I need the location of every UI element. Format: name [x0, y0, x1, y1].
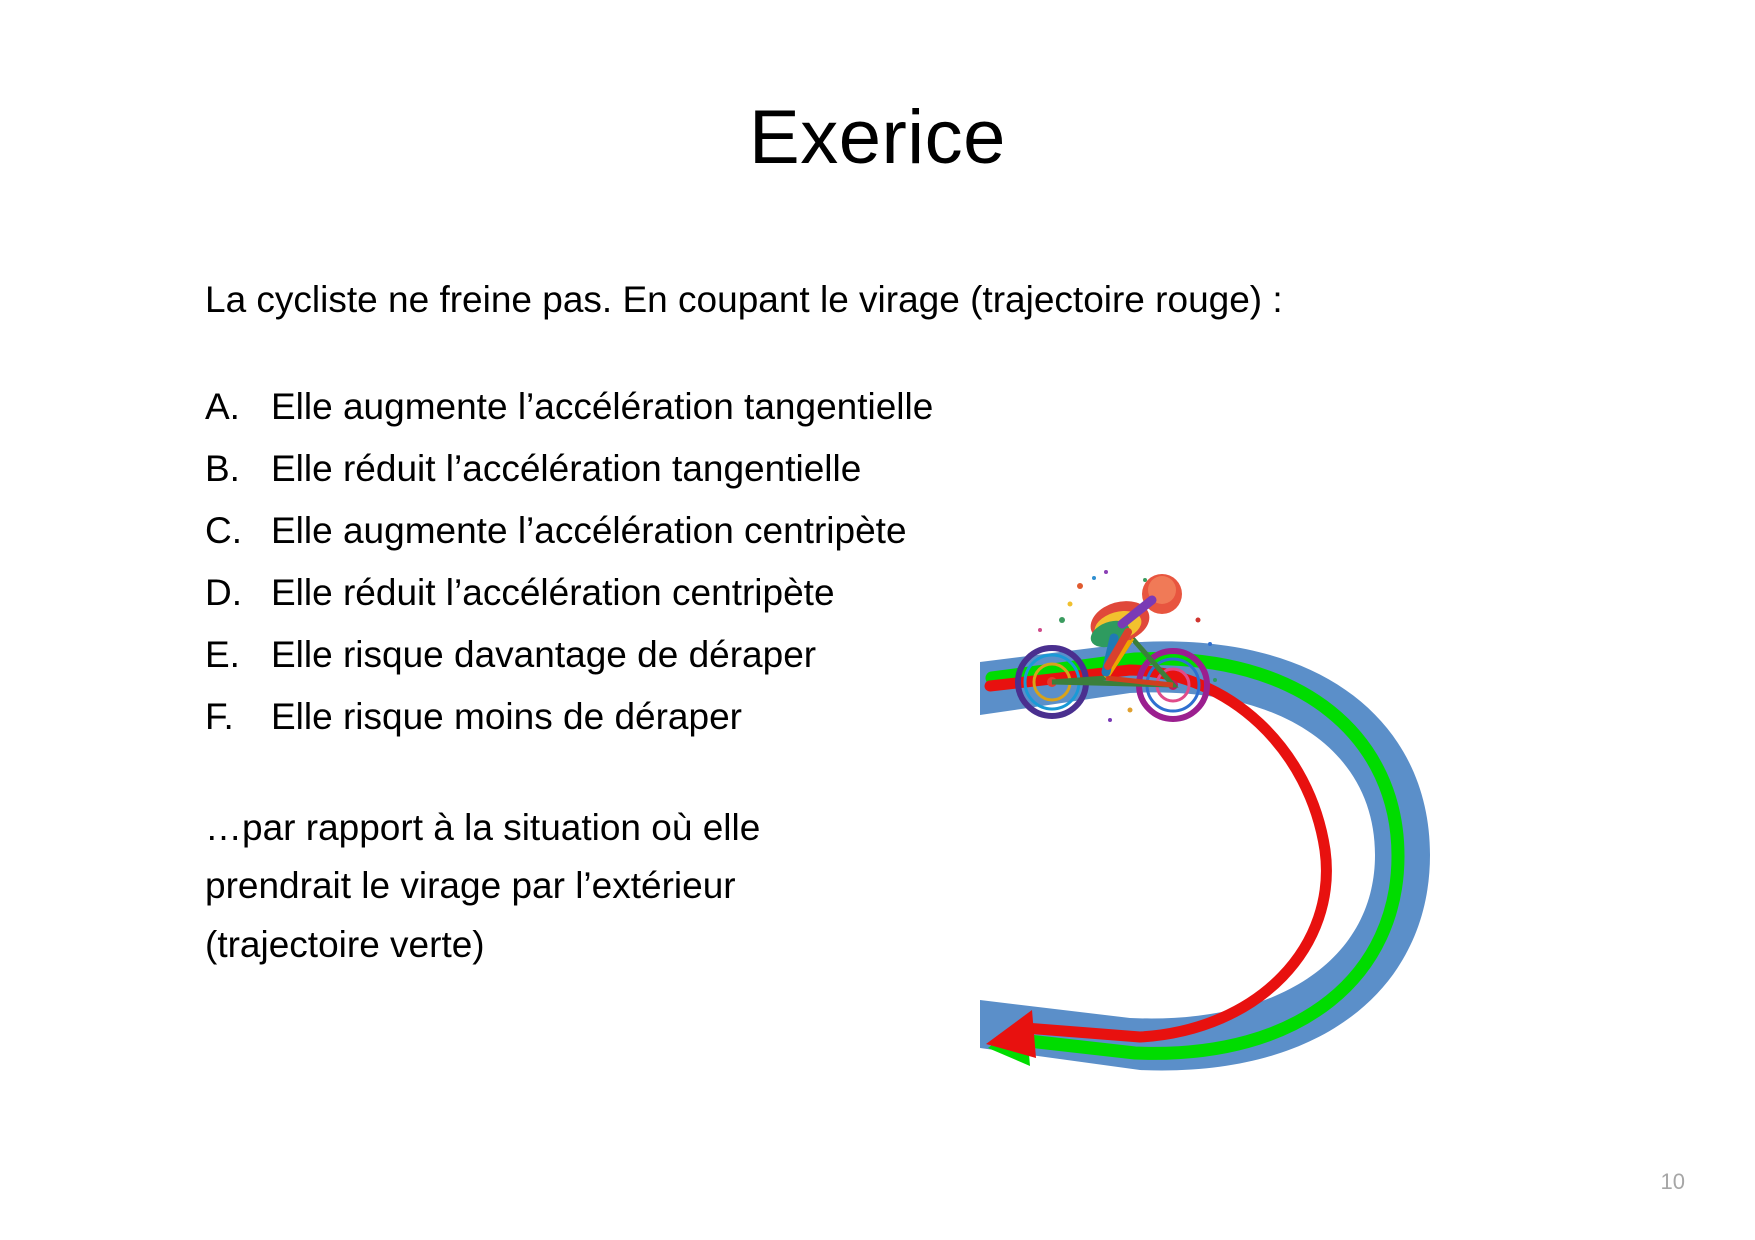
- intro-paragraph: La cycliste ne freine pas. En coupant le…: [205, 277, 1385, 322]
- cyclist-body: [1086, 574, 1182, 672]
- option-label-c: Elle augmente l’accélération centripète: [271, 512, 907, 549]
- closing-paragraph: …par rapport à la situation où elle pren…: [205, 805, 845, 968]
- option-marker-f: F.: [205, 698, 271, 735]
- option-marker-c: C.: [205, 512, 271, 549]
- slide-canvas: Exerice La cycliste ne freine pas. En co…: [0, 0, 1755, 1240]
- option-label-f: Elle risque moins de déraper: [271, 698, 742, 735]
- option-item-a[interactable]: A. Elle augmente l’accélération tangenti…: [205, 388, 1385, 425]
- closing-line-2: prendrait le virage par l’extérieur: [205, 863, 845, 909]
- option-label-e: Elle risque davantage de déraper: [271, 636, 816, 673]
- option-item-b[interactable]: B. Elle réduit l’accélération tangentiel…: [205, 450, 1385, 487]
- option-item-c[interactable]: C. Elle augmente l’accélération centripè…: [205, 512, 1385, 549]
- cyclist-illustration: [1010, 560, 1240, 740]
- option-marker-d: D.: [205, 574, 271, 611]
- option-marker-b: B.: [205, 450, 271, 487]
- option-label-a: Elle augmente l’accélération tangentiell…: [271, 388, 933, 425]
- option-marker-a: A.: [205, 388, 271, 425]
- page-number: 10: [1661, 1169, 1685, 1195]
- option-label-d: Elle réduit l’accélération centripète: [271, 574, 835, 611]
- option-marker-e: E.: [205, 636, 271, 673]
- page-title: Exerice: [0, 98, 1755, 178]
- closing-line-3: (trajectoire verte): [205, 922, 845, 968]
- closing-line-1: …par rapport à la situation où elle: [205, 805, 845, 851]
- option-label-b: Elle réduit l’accélération tangentielle: [271, 450, 861, 487]
